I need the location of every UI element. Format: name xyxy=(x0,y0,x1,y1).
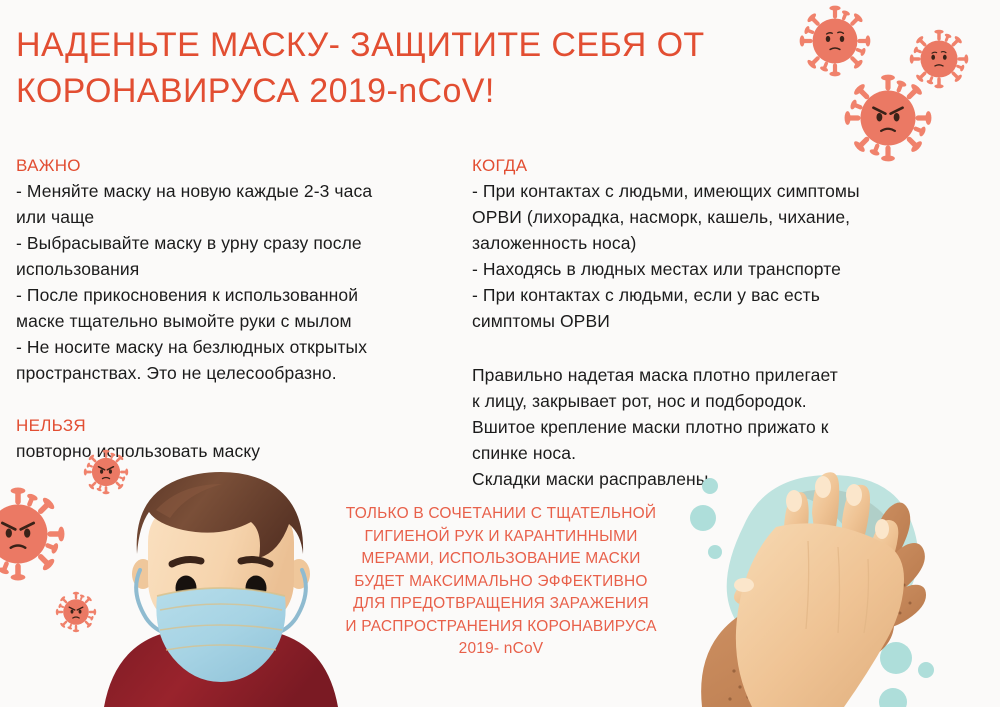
section-important-heading: ВАЖНО xyxy=(16,155,468,177)
virus-bottom-tiny-icon xyxy=(56,592,96,632)
section-forbidden-heading: НЕЛЬЗЯ xyxy=(16,415,468,437)
right-text-column: КОГДА - При контактах с людьми, имеющих … xyxy=(472,155,972,492)
infographic-poster: НАДЕНЬТЕ МАСКУ- ЗАЩИТИТЕ СЕБЯ ОТ КОРОНАВ… xyxy=(0,0,1000,707)
section-when: КОГДА - При контактах с людьми, имеющих … xyxy=(472,155,972,334)
virus-top-center-icon xyxy=(845,75,931,161)
section-important-body: - Меняйте маску на новую каждые 2-3 часа… xyxy=(16,178,468,386)
section-important: ВАЖНО - Меняйте маску на новую каждые 2-… xyxy=(16,155,468,386)
masked-boy-illustration xyxy=(96,468,346,707)
bottom-caption: ТОЛЬКО В СОЧЕТАНИИ С ТЩАТЕЛЬНОЙ ГИГИЕНОЙ… xyxy=(310,503,692,661)
left-text-column: ВАЖНО - Меняйте маску на новую каждые 2-… xyxy=(16,155,468,464)
page-title: НАДЕНЬТЕ МАСКУ- ЗАЩИТИТЕ СЕБЯ ОТ КОРОНАВ… xyxy=(16,22,806,114)
virus-bottom-large-icon xyxy=(0,488,64,580)
section-when-body: - При контактах с людьми, имеющих симпто… xyxy=(472,178,972,334)
washing-hands-illustration xyxy=(672,455,1000,707)
virus-top-left-icon xyxy=(800,6,870,76)
